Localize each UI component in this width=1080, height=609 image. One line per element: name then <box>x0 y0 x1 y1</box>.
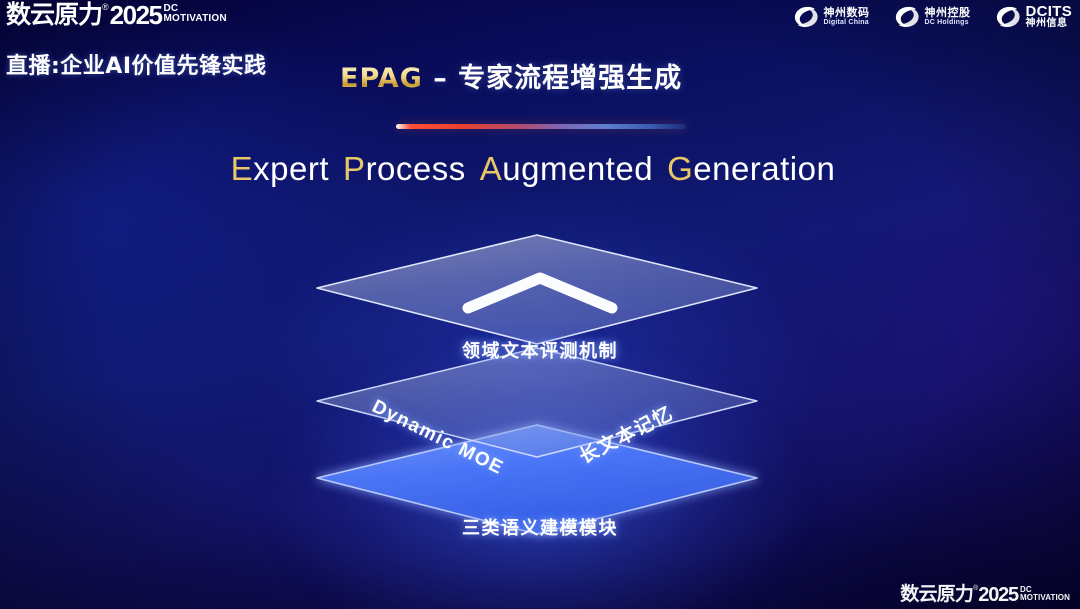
swirl-icon <box>793 6 819 28</box>
subtitle-word-generation: Generation <box>667 150 835 187</box>
layer-top-label: 领域文本评测机制 <box>462 337 618 363</box>
subtitle-word-expert: Expert <box>231 150 329 187</box>
partner-name-cn: 神州控股 <box>925 7 971 19</box>
footer-logo-motivation: MOTIVATION <box>1020 594 1070 602</box>
subtitle-rest-process: rocess <box>366 150 466 187</box>
partner-text: 神州数码 Digital China <box>824 7 870 26</box>
live-stream-title: 直播:企业AI价值先锋实践 <box>6 48 267 80</box>
partner-logo-dc-holdings: 神州控股 DC Holdings <box>894 6 971 28</box>
subtitle-rest-generation: eneration <box>693 150 835 187</box>
layer-top-shape <box>0 200 1080 600</box>
partner-text: DCITS 神州信息 <box>1026 4 1073 30</box>
brand-logo-year: 2025 <box>110 2 162 28</box>
headline-dash: – <box>423 63 458 94</box>
subtitle-cap-g: G <box>667 150 693 187</box>
partner-name-en: DC Holdings <box>925 19 971 26</box>
subtitle-cap-p: P <box>343 150 366 187</box>
footer-watermark-logo: 数云原力 ® 2025 DC MOTIVATION <box>900 585 1070 605</box>
headline-chinese: 专家流程增强生成 <box>458 63 682 94</box>
layered-architecture-diagram: 三类语义建模模块 Dynamic MOE 长文本记忆 <box>0 200 1080 600</box>
partner-name-brand: DCITS <box>1026 4 1073 19</box>
partner-name-cn: 神州信息 <box>1026 19 1073 30</box>
gradient-divider <box>396 124 686 129</box>
swirl-icon <box>894 6 920 28</box>
brand-logo: 数云原力 ® 2025 DC MOTIVATION <box>6 2 227 28</box>
brand-logo-motivation: MOTIVATION <box>164 14 227 24</box>
footer-logo-chinese: 数云原力 <box>900 585 973 604</box>
slide-subtitle: ExpertProcessAugmentedGeneration <box>0 150 1080 188</box>
footer-logo-dc-motivation: DC MOTIVATION <box>1020 585 1070 601</box>
partner-name-en: Digital China <box>824 19 870 26</box>
diagram-layer-top[interactable]: 领域文本评测机制 <box>0 200 1080 600</box>
subtitle-word-process: Process <box>343 150 466 187</box>
subtitle-rest-augmented: ugmented <box>502 150 653 187</box>
partner-logo-group: 神州数码 Digital China 神州控股 DC Holdings <box>793 4 1073 30</box>
headline-acronym: EPAG <box>340 63 423 94</box>
partner-name-cn: 神州数码 <box>824 7 870 19</box>
slide-headline: EPAG – 专家流程增强生成 <box>340 56 682 95</box>
swirl-icon <box>995 6 1021 28</box>
slide-canvas: 数云原力 ® 2025 DC MOTIVATION 直播:企业AI价值先锋实践 … <box>0 0 1080 609</box>
footer-logo-year: 2025 <box>978 585 1018 605</box>
subtitle-rest-expert: xpert <box>253 150 329 187</box>
subtitle-cap-e: E <box>231 150 254 187</box>
subtitle-cap-a: A <box>480 150 503 187</box>
subtitle-word-augmented: Augmented <box>480 150 653 187</box>
partner-logo-digital-china: 神州数码 Digital China <box>793 6 870 28</box>
partner-text: 神州控股 DC Holdings <box>925 7 971 26</box>
partner-logo-dcits: DCITS 神州信息 <box>995 4 1073 30</box>
brand-logo-chinese: 数云原力 <box>6 2 102 27</box>
brand-logo-registered: ® <box>102 2 109 12</box>
brand-logo-dc-motivation: DC MOTIVATION <box>164 2 227 23</box>
